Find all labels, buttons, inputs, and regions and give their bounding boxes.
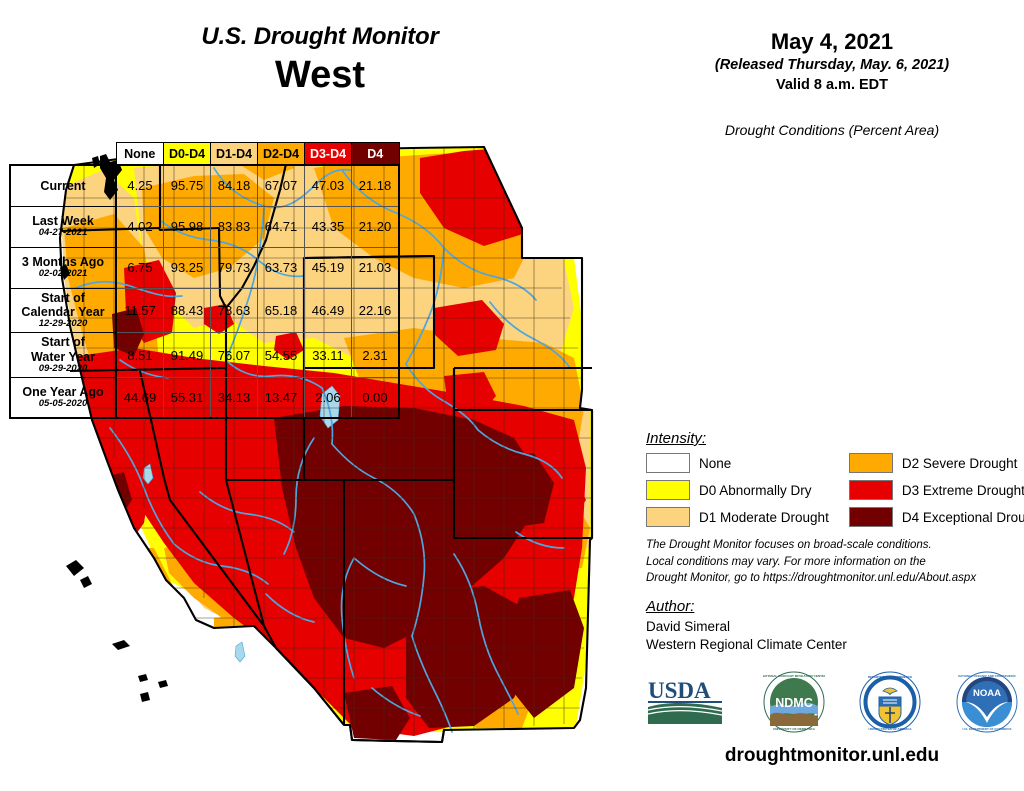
table-col-header-none: None: [116, 143, 164, 166]
table-cell: 47.03: [305, 165, 352, 206]
table-col-header-d3-d4: D3-D4: [305, 143, 352, 166]
table-cell: 21.03: [352, 247, 400, 288]
table-corner-cell: [10, 143, 116, 166]
table-cell: 6.75: [116, 247, 164, 288]
legend-column-right: D2 Severe DroughtD3 Extreme DroughtD4 Ex…: [849, 453, 1024, 527]
disclaimer-line: The Drought Monitor focuses on broad-sca…: [646, 537, 1024, 554]
table-cell: 65.18: [258, 288, 305, 333]
date-block: May 4, 2021 (Released Thursday, May. 6, …: [640, 28, 1024, 95]
svg-text:NATIONAL DROUGHT MITIGATION CE: NATIONAL DROUGHT MITIGATION CENTER: [763, 674, 825, 678]
table-caption: Drought Conditions (Percent Area): [640, 122, 1024, 138]
table-row: Last Week04-27-20214.0295.9883.8364.7143…: [10, 206, 399, 247]
table-cell: 95.98: [164, 206, 211, 247]
row-label-date: 04-27-2021: [14, 228, 112, 239]
table-cell: 33.11: [305, 333, 352, 378]
legend-swatch: [849, 507, 893, 527]
table-row-label: Current: [10, 165, 116, 206]
row-label-date: 05-05-2020: [14, 399, 112, 410]
legend-label: D1 Moderate Drought: [699, 510, 829, 525]
svg-text:NDMC: NDMC: [775, 696, 813, 710]
table-cell: 83.83: [211, 206, 258, 247]
legend-swatch: [646, 480, 690, 500]
noaa-logo: NOAA NATIONAL OCEANIC AND ATMOSPHERIC U.…: [956, 671, 1018, 738]
table-cell: 34.13: [211, 377, 258, 418]
table-cell: 45.19: [305, 247, 352, 288]
legend-swatch: [849, 453, 893, 473]
table-cell: 55.31: [164, 377, 211, 418]
table-row-label: Start ofWater Year09-29-2020: [10, 333, 116, 378]
report-date: May 4, 2021: [640, 28, 1024, 56]
table-cell: 78.63: [211, 288, 258, 333]
row-label-name: Current: [14, 179, 112, 193]
author-block: Author: David Simeral Western Regional C…: [646, 598, 1024, 654]
table-cell: 21.18: [352, 165, 400, 206]
svg-text:U.S. DEPARTMENT OF COMMERCE: U.S. DEPARTMENT OF COMMERCE: [962, 727, 1011, 731]
table-cell: 21.20: [352, 206, 400, 247]
table-row-label: Start ofCalendar Year12-29-2020: [10, 288, 116, 333]
page-title: U.S. Drought Monitor: [0, 24, 640, 50]
table-header-row: NoneD0-D4D1-D4D2-D4D3-D4D4: [10, 143, 399, 166]
legend-label: None: [699, 456, 731, 471]
table-cell: 63.73: [258, 247, 305, 288]
svg-text:UNIVERSITY OF NEBRASKA: UNIVERSITY OF NEBRASKA: [773, 727, 816, 731]
table-cell: 79.73: [211, 247, 258, 288]
table-cell: 46.49: [305, 288, 352, 333]
row-label-name: One Year Ago: [14, 385, 112, 399]
table-cell: 84.18: [211, 165, 258, 206]
disclaimer-line: Local conditions may vary. For more info…: [646, 554, 1024, 571]
table-row: 3 Months Ago02-02-20216.7593.2579.7363.7…: [10, 247, 399, 288]
valid-time: Valid 8 a.m. EDT: [640, 75, 1024, 95]
row-label-name: Last Week: [14, 214, 112, 228]
legend-item: D2 Severe Drought: [849, 453, 1024, 473]
table-cell: 76.07: [211, 333, 258, 378]
row-label-date: 02-02-2021: [14, 269, 112, 280]
ndmc-logo: NDMC NATIONAL DROUGHT MITIGATION CENTER …: [763, 671, 825, 738]
title-block: U.S. Drought Monitor West: [0, 24, 640, 98]
table-cell: 64.71: [258, 206, 305, 247]
legend: Intensity: NoneD0 Abnormally DryD1 Moder…: [646, 430, 1016, 527]
table-cell: 22.16: [352, 288, 400, 333]
row-label-name: Start of: [14, 335, 112, 349]
table-row: Start ofWater Year09-29-20208.5191.4976.…: [10, 333, 399, 378]
svg-text:NATIONAL OCEANIC AND ATMOSPHER: NATIONAL OCEANIC AND ATMOSPHERIC: [958, 674, 1017, 678]
disclaimer-text: The Drought Monitor focuses on broad-sca…: [646, 537, 1024, 587]
svg-text:UNITED STATES OF AMERICA: UNITED STATES OF AMERICA: [869, 727, 913, 731]
logo-strip: USDA NDMC NATIONAL DROUGHT MITIGATION CE…: [646, 668, 1018, 740]
legend-item: D3 Extreme Drought: [849, 480, 1024, 500]
row-label-name: Water Year: [14, 350, 112, 364]
legend-swatch: [646, 507, 690, 527]
table-row-label: 3 Months Ago02-02-2021: [10, 247, 116, 288]
row-label-name: Calendar Year: [14, 305, 112, 319]
table-cell: 0.00: [352, 377, 400, 418]
table-row-label: Last Week04-27-2021: [10, 206, 116, 247]
author-label: Author:: [646, 598, 1024, 615]
legend-label: D4 Exceptional Drought: [902, 510, 1024, 525]
legend-swatch: [646, 453, 690, 473]
legend-title: Intensity:: [646, 430, 1016, 447]
row-label-date: 09-29-2020: [14, 364, 112, 375]
table-cell: 8.51: [116, 333, 164, 378]
svg-text:USDA: USDA: [648, 678, 711, 703]
legend-item: D1 Moderate Drought: [646, 507, 829, 527]
table-col-header-d0-d4: D0-D4: [164, 143, 211, 166]
table-col-header-d1-d4: D1-D4: [211, 143, 258, 166]
table-cell: 13.47: [258, 377, 305, 418]
row-label-name: Start of: [14, 291, 112, 305]
legend-item: None: [646, 453, 829, 473]
table-cell: 4.02: [116, 206, 164, 247]
table-row-label: One Year Ago05-05-2020: [10, 377, 116, 418]
legend-item: D0 Abnormally Dry: [646, 480, 829, 500]
release-date: (Released Thursday, May. 6, 2021): [640, 56, 1024, 76]
table-cell: 44.69: [116, 377, 164, 418]
table-body: Current4.2595.7584.1867.0747.0321.18Last…: [10, 165, 399, 418]
table-cell: 88.43: [164, 288, 211, 333]
table-cell: 67.07: [258, 165, 305, 206]
svg-text:NOAA: NOAA: [973, 688, 1001, 699]
region-title: West: [0, 54, 640, 98]
table-cell: 4.25: [116, 165, 164, 206]
table-head: NoneD0-D4D1-D4D2-D4D3-D4D4: [10, 143, 399, 166]
table-row: One Year Ago05-05-202044.6955.3134.1313.…: [10, 377, 399, 418]
table-cell: 11.57: [116, 288, 164, 333]
legend-swatch: [849, 480, 893, 500]
disclaimer-line: Drought Monitor, go to https://droughtmo…: [646, 570, 1024, 587]
legend-column-left: NoneD0 Abnormally DryD1 Moderate Drought: [646, 453, 829, 527]
table-cell: 43.35: [305, 206, 352, 247]
table-col-header-d4: D4: [352, 143, 400, 166]
author-affiliation: Western Regional Climate Center: [646, 636, 1024, 654]
table-row: Start ofCalendar Year12-29-202011.5788.4…: [10, 288, 399, 333]
table-cell: 95.75: [164, 165, 211, 206]
table-cell: 54.55: [258, 333, 305, 378]
row-label-date: 12-29-2020: [14, 319, 112, 330]
usda-logo: USDA: [646, 676, 728, 733]
table-cell: 2.31: [352, 333, 400, 378]
usdc-logo: DEPARTMENT OF COMMERCE UNITED STATES OF …: [859, 671, 921, 738]
table-cell: 93.25: [164, 247, 211, 288]
table-row: Current4.2595.7584.1867.0747.0321.18: [10, 165, 399, 206]
svg-text:DEPARTMENT OF COMMERCE: DEPARTMENT OF COMMERCE: [868, 675, 912, 679]
drought-conditions-table: NoneD0-D4D1-D4D2-D4D3-D4D4 Current4.2595…: [9, 142, 400, 419]
legend-label: D2 Severe Drought: [902, 456, 1018, 471]
table-col-header-d2-d4: D2-D4: [258, 143, 305, 166]
legend-label: D0 Abnormally Dry: [699, 483, 812, 498]
table-cell: 91.49: [164, 333, 211, 378]
legend-item: D4 Exceptional Drought: [849, 507, 1024, 527]
author-name: David Simeral: [646, 618, 1024, 636]
legend-label: D3 Extreme Drought: [902, 483, 1024, 498]
row-label-name: 3 Months Ago: [14, 255, 112, 269]
site-url[interactable]: droughtmonitor.unl.edu: [640, 745, 1024, 767]
table-cell: 2.06: [305, 377, 352, 418]
